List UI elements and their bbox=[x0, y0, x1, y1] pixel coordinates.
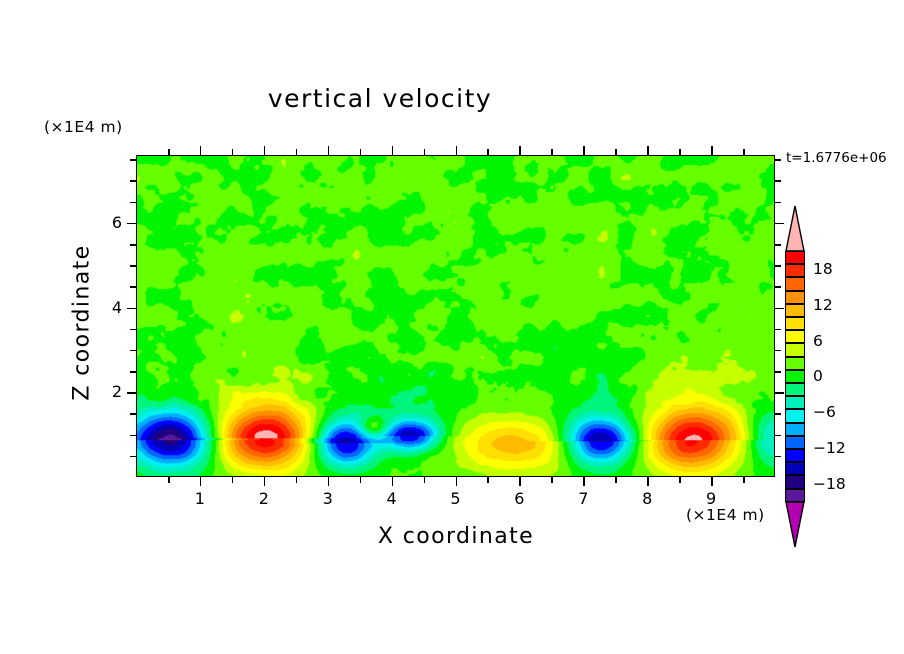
colorbar-band bbox=[785, 291, 805, 304]
colorbar-tick-label: 0 bbox=[813, 367, 823, 385]
x-tick-label: 6 bbox=[499, 489, 539, 508]
colorbar-band bbox=[785, 330, 805, 343]
x-tick-minor bbox=[551, 149, 553, 155]
time-stamp-annotation: t=1.6776e+06 bbox=[786, 150, 887, 166]
y-tick-minor bbox=[127, 392, 136, 394]
colorbar-band bbox=[785, 409, 805, 422]
x-tick-label: 8 bbox=[627, 489, 667, 508]
x-tick-minor bbox=[551, 477, 553, 483]
colorbar-band bbox=[785, 423, 805, 436]
y-tick-minor bbox=[775, 350, 781, 352]
y-tick-minor bbox=[775, 159, 781, 161]
x-tick-label: 9 bbox=[691, 489, 731, 508]
colorbar-band bbox=[785, 396, 805, 409]
colorbar-legend: 181260−6−12−18 bbox=[783, 205, 807, 520]
y-axis-unit-label: (×1E4 m) bbox=[44, 118, 123, 136]
x-tick-minor bbox=[424, 477, 426, 483]
x-tick-minor bbox=[487, 149, 489, 155]
colorbar-band bbox=[785, 462, 805, 475]
y-tick-minor bbox=[130, 286, 136, 288]
x-tick-minor bbox=[711, 477, 713, 486]
colorbar-band bbox=[785, 475, 805, 488]
y-tick-minor bbox=[127, 223, 136, 225]
vertical-velocity-field bbox=[137, 156, 774, 476]
x-tick-label: 7 bbox=[563, 489, 603, 508]
y-tick-minor bbox=[775, 456, 781, 458]
x-tick-minor bbox=[615, 477, 617, 483]
colorbar-band bbox=[785, 304, 805, 317]
x-tick-minor bbox=[264, 146, 266, 155]
y-tick-minor bbox=[130, 180, 136, 182]
x-tick-minor bbox=[200, 146, 202, 155]
x-tick-minor bbox=[264, 477, 266, 486]
x-tick-label: 2 bbox=[244, 489, 284, 508]
colorbar-cap-bottom bbox=[785, 502, 805, 548]
x-tick-minor bbox=[296, 149, 298, 155]
y-tick-minor bbox=[775, 180, 781, 182]
y-tick-minor bbox=[775, 435, 781, 437]
x-tick-minor bbox=[679, 477, 681, 483]
contour-plot-area bbox=[136, 155, 775, 477]
x-tick-minor bbox=[360, 477, 362, 483]
x-tick-minor bbox=[487, 477, 489, 483]
colorbar-band bbox=[785, 251, 805, 264]
x-tick-minor bbox=[424, 149, 426, 155]
y-tick-minor bbox=[775, 329, 781, 331]
x-tick-minor bbox=[743, 149, 745, 155]
x-tick-label: 3 bbox=[308, 489, 348, 508]
y-tick-minor bbox=[775, 371, 781, 373]
x-tick-minor bbox=[711, 146, 713, 155]
colorbar-cap-top bbox=[785, 205, 805, 251]
x-tick-label: 5 bbox=[436, 489, 476, 508]
colorbar-band bbox=[785, 489, 805, 502]
x-tick-minor bbox=[583, 477, 585, 486]
y-tick-label: 4 bbox=[82, 298, 122, 317]
x-tick-minor bbox=[360, 149, 362, 155]
x-tick-label: 4 bbox=[372, 489, 412, 508]
x-tick-minor bbox=[519, 477, 521, 486]
x-tick-minor bbox=[679, 149, 681, 155]
y-tick-minor bbox=[130, 244, 136, 246]
y-tick-minor bbox=[775, 244, 781, 246]
x-tick-minor bbox=[200, 477, 202, 486]
x-tick-minor bbox=[647, 477, 649, 486]
colorbar-tick-label: −18 bbox=[813, 475, 846, 493]
y-tick-minor bbox=[127, 308, 136, 310]
x-tick-minor bbox=[743, 477, 745, 483]
y-tick-minor bbox=[130, 265, 136, 267]
y-tick-minor bbox=[775, 286, 781, 288]
colorbar-band bbox=[785, 436, 805, 449]
y-tick-minor bbox=[130, 329, 136, 331]
colorbar-band bbox=[785, 343, 805, 356]
x-axis-unit-label: (×1E4 m) bbox=[686, 506, 765, 524]
x-tick-minor bbox=[583, 146, 585, 155]
y-tick-minor bbox=[130, 350, 136, 352]
y-tick-minor bbox=[130, 435, 136, 437]
colorbar-band bbox=[785, 317, 805, 330]
x-tick-minor bbox=[328, 146, 330, 155]
y-tick-minor bbox=[775, 413, 781, 415]
x-tick-minor bbox=[456, 146, 458, 155]
y-tick-minor bbox=[775, 265, 781, 267]
x-tick-minor bbox=[519, 146, 521, 155]
colorbar-tick-label: −12 bbox=[813, 439, 846, 457]
x-tick-minor bbox=[232, 149, 234, 155]
y-tick-minor bbox=[130, 202, 136, 204]
x-tick-minor bbox=[456, 477, 458, 486]
figure-root: vertical velocity (×1E4 m) (×1E4 m) t=1.… bbox=[0, 0, 904, 654]
colorbar-tick-label: 12 bbox=[813, 296, 833, 314]
x-tick-label: 1 bbox=[180, 489, 220, 508]
page-title: vertical velocity bbox=[0, 84, 760, 113]
colorbar-band bbox=[785, 449, 805, 462]
colorbar-band bbox=[785, 277, 805, 290]
x-tick-minor bbox=[168, 149, 170, 155]
colorbar-band bbox=[785, 264, 805, 277]
y-tick-label: 2 bbox=[82, 382, 122, 401]
y-tick-minor bbox=[775, 202, 781, 204]
x-tick-minor bbox=[232, 477, 234, 483]
colorbar-tick-label: 18 bbox=[813, 260, 833, 278]
colorbar-band bbox=[785, 357, 805, 370]
colorbar-tick-label: −6 bbox=[813, 403, 836, 421]
x-tick-minor bbox=[296, 477, 298, 483]
x-tick-minor bbox=[328, 477, 330, 486]
x-tick-minor bbox=[615, 149, 617, 155]
y-tick-label: 6 bbox=[82, 213, 122, 232]
x-tick-minor bbox=[392, 477, 394, 486]
x-tick-minor bbox=[392, 146, 394, 155]
x-tick-minor bbox=[647, 146, 649, 155]
y-tick-minor bbox=[130, 371, 136, 373]
x-tick-minor bbox=[168, 477, 170, 483]
colorbar-band bbox=[785, 383, 805, 396]
y-tick-minor bbox=[130, 159, 136, 161]
y-tick-minor bbox=[130, 456, 136, 458]
y-tick-minor bbox=[130, 413, 136, 415]
colorbar-band bbox=[785, 370, 805, 383]
x-axis-title: X coordinate bbox=[286, 524, 626, 549]
colorbar-tick-label: 6 bbox=[813, 332, 823, 350]
